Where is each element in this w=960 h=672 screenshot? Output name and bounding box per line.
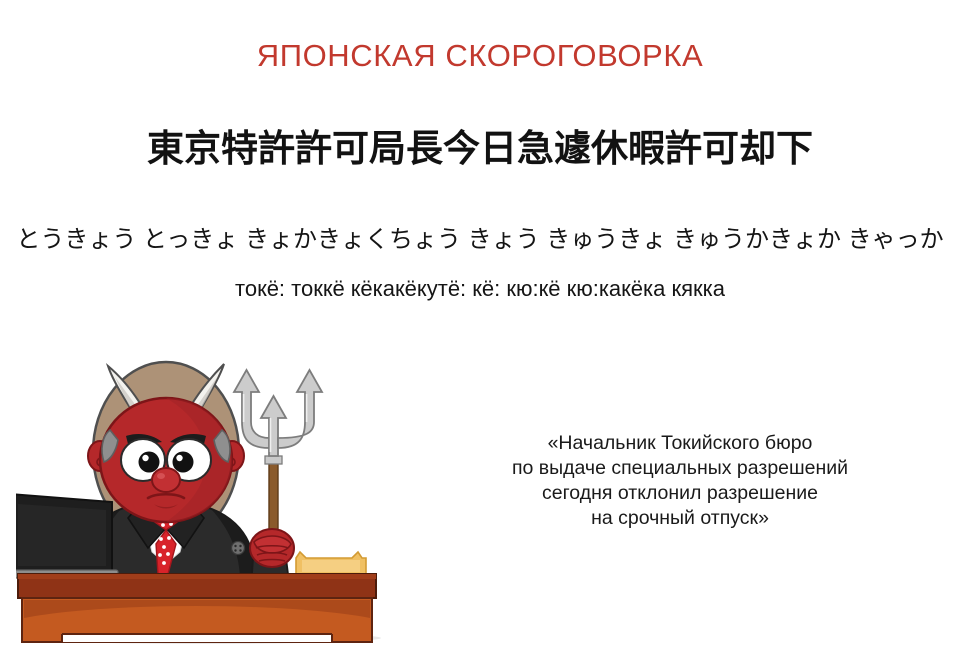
translation-line: по выдаче специальных разрешений [420,456,940,481]
nameplate [296,552,366,576]
illustration-devil-boss [16,352,396,652]
translation-line: на срочный отпуск» [420,506,940,531]
russian-translation-block: «Начальник Токийского бюро по выдаче спе… [420,431,940,531]
translation-line: сегодня отклонил разрешение [420,481,940,506]
japanese-hiragana-line: とうきょう とっきょ きょかきょくちょう きょう きゅうきょ きゅうかきょか き… [0,219,960,254]
page-title: ЯПОНСКАЯ СКОРОГОВОРКА [0,38,960,74]
cyrillic-transliteration-line: токё: токкё кёкакёкутё: кё: кю:кё кю:как… [0,276,960,302]
desk [18,574,376,642]
sleeve-button [232,542,245,555]
translation-line: «Начальник Токийского бюро [420,431,940,456]
japanese-kanji-line: 東京特許許可局長今日急遽休暇許可却下 [0,118,960,172]
nose [152,468,180,492]
right-fist [250,529,294,574]
laptop [16,494,118,578]
